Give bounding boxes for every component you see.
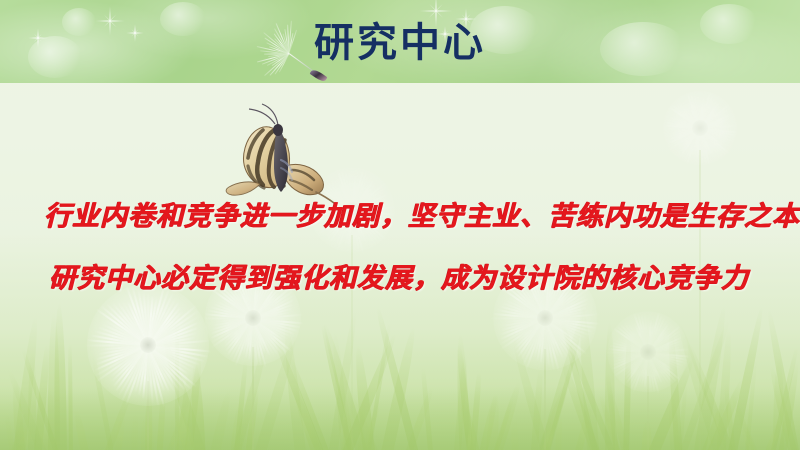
- slide-header-band: 研究中心: [0, 0, 800, 83]
- body-text-block: 行业内卷和竞争进一步加剧，坚守主业、苦练内功是生存之本 研究中心必定得到强化和发…: [44, 186, 774, 310]
- dandelion-puff-icon: [604, 308, 692, 396]
- page-title: 研究中心: [0, 20, 800, 66]
- body-line-2: 研究中心必定得到强化和发展，成为设计院的核心竞争力: [44, 248, 774, 310]
- body-line-1: 行业内卷和竞争进一步加剧，坚守主业、苦练内功是生存之本: [44, 186, 774, 248]
- slide-canvas: 研究中心: [0, 0, 800, 450]
- dandelion-puff-icon: [660, 88, 740, 168]
